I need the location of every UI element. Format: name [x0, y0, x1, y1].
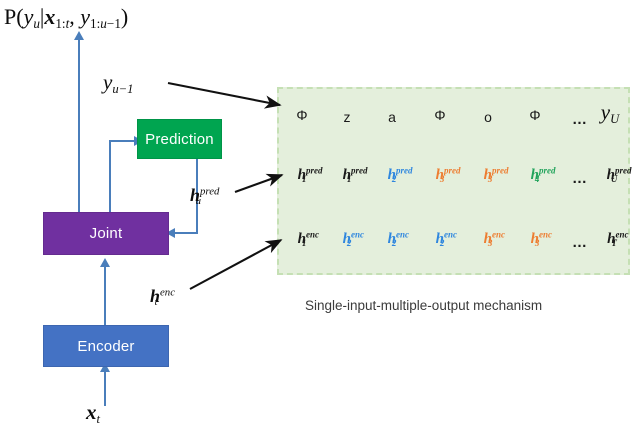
h-pred-to-prediction-row-arrow	[235, 175, 282, 192]
grid-cell: hpred1	[343, 167, 352, 184]
joint-block-label: Joint	[90, 225, 123, 242]
grid-cell: henc2	[388, 231, 397, 248]
grid-cell: henc3	[484, 231, 493, 248]
grid-cell: henc2	[436, 231, 445, 248]
grid-cell: z	[344, 109, 351, 125]
y-prev-label: yu−1	[103, 72, 133, 93]
h-pred-label: hpredu	[190, 186, 201, 204]
grid-cell: Φ	[434, 107, 445, 123]
joint-block[interactable]: Joint	[43, 212, 169, 255]
grid-cell: hpred4	[531, 167, 540, 184]
joint-to-prediction-hline	[109, 140, 137, 142]
joint-to-output-line	[78, 40, 80, 212]
grid-cell: henc1	[298, 231, 307, 248]
h-enc-label: henct	[150, 287, 157, 305]
output-probability-label: P(yu|x1:t, y1:u−1)	[4, 6, 128, 28]
h-enc-to-encoder-row-arrow	[190, 240, 281, 289]
sequence-grid-panel: Φ z a Φ o Φ … yU hpred1 hpred1 hpred2 hp…	[277, 87, 630, 275]
grid-cell: hpred3	[484, 167, 493, 184]
grid-cell: hpredU	[607, 167, 618, 184]
prediction-block[interactable]: Prediction	[137, 119, 222, 159]
prediction-state-row: hpred1 hpred1 hpred2 hpred3 hpred3 hpred…	[279, 167, 628, 201]
grid-cell: hpred1	[298, 167, 307, 184]
grid-cell: o	[484, 109, 492, 125]
input-to-encoder-line	[104, 371, 106, 406]
encoder-block-label: Encoder	[77, 338, 134, 355]
joint-to-prediction-vline	[109, 140, 111, 212]
grid-cell: henc2	[343, 231, 352, 248]
prediction-block-label: Prediction	[145, 131, 214, 148]
figure-canvas: P(yu|x1:t, y1:u−1) Prediction Joint Enco…	[0, 0, 640, 435]
y-prev-to-token-row-arrow	[168, 83, 280, 105]
prediction-to-joint-hline	[172, 232, 198, 234]
grid-cell-ellipsis: …	[572, 111, 588, 128]
grid-cell: Φ	[529, 107, 540, 123]
grid-cell-ellipsis: …	[572, 234, 588, 251]
grid-cell-ellipsis: …	[572, 170, 588, 187]
panel-caption: Single-input-multiple-output mechanism	[305, 298, 542, 313]
output-arrowhead	[74, 31, 84, 40]
x-input-label: xt	[86, 402, 100, 423]
encoder-to-joint-line	[104, 266, 106, 325]
grid-cell: Φ	[296, 107, 307, 123]
grid-cell: hpred2	[388, 167, 397, 184]
output-token-row: Φ z a Φ o Φ … yU	[279, 107, 628, 141]
encoder-block[interactable]: Encoder	[43, 325, 169, 367]
grid-cell: yU	[601, 102, 619, 123]
grid-cell: henc3	[531, 231, 540, 248]
grid-cell: a	[388, 109, 396, 125]
encoder-state-row: henc1 henc2 henc2 henc2 henc3 henc3 … he…	[279, 231, 628, 265]
grid-cell: hpred3	[436, 167, 445, 184]
grid-cell: hencT	[607, 231, 617, 248]
joint-bottom-arrowhead	[100, 258, 110, 267]
